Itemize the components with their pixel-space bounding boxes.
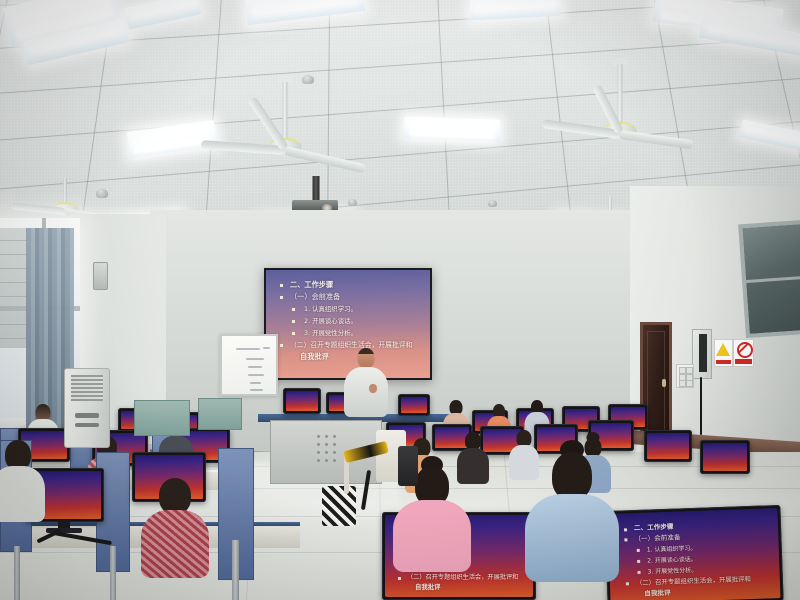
storage-cabinet (198, 398, 242, 430)
teacher-monitor[interactable] (283, 388, 321, 414)
electrical-distribution-box (692, 329, 712, 379)
desk-leg (110, 546, 116, 600)
desk-leg (232, 540, 239, 600)
handbag (322, 486, 356, 526)
hanging-bag (398, 446, 418, 486)
ceiling-fan (545, 58, 695, 163)
lab-monitor[interactable] (700, 440, 750, 474)
slide-line: （二）召开专题组织生活会，开展批评和 (407, 573, 530, 583)
classroom-photo: 二、工作步骤 （一）会前准备 1. 认真组织学习。 2. 开展谈心谈话。 3. … (0, 0, 800, 600)
warning-electric-shock-sign (714, 339, 733, 367)
ceiling-light-panel (404, 116, 501, 141)
slide-line: （一）会前准备 (290, 291, 426, 303)
attendee (0, 440, 46, 516)
smoke-detector (96, 189, 108, 198)
slide-surface-monitor: 二、工作步骤 （一）会前准备 1. 认真组织学习。 2. 开展谈心谈话。 3. … (607, 508, 780, 600)
no-smoking-sign (733, 339, 754, 367)
ceiling-fan (205, 76, 365, 186)
floor-standing-air-conditioner (64, 368, 110, 448)
smoke-detector (348, 199, 357, 206)
lab-monitor-foreground[interactable]: 二、工作步骤 （一）会前准备 1. 认真组织学习。 2. 开展谈心谈话。 3. … (604, 505, 783, 600)
attendee (140, 478, 210, 570)
slide-line: 1. 认真组织学习。 (304, 303, 426, 315)
smoke-detector (488, 200, 497, 207)
podium-vent-holes (317, 435, 336, 462)
wall-speaker (93, 262, 108, 290)
storage-cabinet (134, 400, 190, 436)
slide-line: 2. 开展谈心谈话。 (304, 315, 426, 327)
lab-monitor[interactable] (644, 430, 692, 462)
slide-line: 自我批评 (415, 583, 530, 592)
front-monitor[interactable] (398, 394, 430, 416)
desk-leg (14, 546, 20, 600)
slide-line: 3. 开展党性分析。 (304, 327, 426, 339)
presenter (340, 348, 392, 416)
slide-bullet-list: 二、工作步骤 （一）会前准备 1. 认真组织学习。 2. 开展谈心谈话。 3. … (634, 518, 777, 598)
smoke-detector (302, 75, 314, 84)
whiteboard (220, 334, 278, 396)
attendee (524, 448, 620, 568)
right-window (738, 220, 800, 338)
slide-line: 二、工作步骤 (290, 279, 426, 291)
conduit-cable (700, 377, 702, 435)
light-switch-panel[interactable] (676, 364, 694, 388)
